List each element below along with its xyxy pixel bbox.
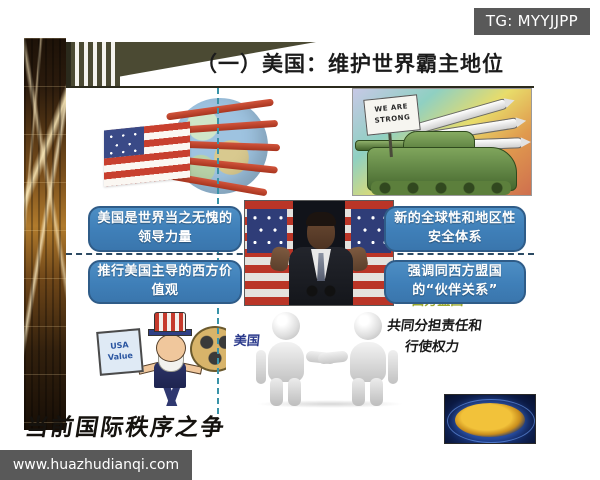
head-shape <box>156 334 186 362</box>
page-title: （一）美国：维护世界霸主地位 <box>170 42 530 86</box>
content-area: WE ARE STRONG USA <box>66 88 534 414</box>
golden-globe-photo <box>444 394 536 444</box>
callout-security-system[interactable]: 新的全球性和地区性安全体系 <box>384 206 526 252</box>
figure-leg <box>352 378 365 406</box>
label-united-states: 美国 <box>233 330 261 349</box>
we-are-strong-sign: WE ARE STRONG <box>363 94 420 135</box>
uncle-sam-cartoon: USA Value <box>88 310 244 410</box>
calligraphy-caption: 当前国际秩序之争 <box>23 408 228 442</box>
figure-leg <box>288 378 301 406</box>
microphones-shape <box>305 285 337 305</box>
figure-arm-extended <box>318 350 349 364</box>
tg-watermark-badge: TG: MYYJJPP <box>474 8 590 35</box>
figure-us <box>260 312 312 404</box>
site-watermark: www.huazhudianqi.com <box>0 450 192 480</box>
figure-leg <box>270 378 283 406</box>
slide-canvas: TG: MYYJJPP （一）美国：维护世界霸主地位 <box>0 0 600 480</box>
title-bar: （一）美国：维护世界霸主地位 <box>66 42 534 86</box>
figure-leg <box>370 378 383 406</box>
figure-torso <box>350 342 386 382</box>
obama-speech-photo <box>244 200 394 306</box>
tank-wheels-shape <box>371 181 511 195</box>
usa-value-sign: USA Value <box>96 328 144 376</box>
shared-text-line2: 行使权力 <box>383 337 480 358</box>
callout-western-values[interactable]: 推行美国主导的西方价值观 <box>88 260 242 304</box>
figure-torso <box>268 342 304 382</box>
us-flag-wrapping-globe-cartoon <box>96 92 296 204</box>
tank-missiles-cartoon: WE ARE STRONG <box>352 88 532 196</box>
figure-head <box>272 312 300 340</box>
decorative-left-strip <box>24 38 66 430</box>
shared-responsibility-text: 共同分担责任和 行使权力 <box>383 316 483 358</box>
title-underline <box>66 86 534 88</box>
us-flag-shape <box>104 121 190 186</box>
two-3d-figures-handshake: 美国 西方盟国 共同分担责任和 行使权力 <box>226 288 526 410</box>
shared-text-line1: 共同分担责任和 <box>386 316 483 337</box>
hair-shape <box>306 212 336 226</box>
globe-disc-shape <box>455 403 525 437</box>
figure-allies <box>342 312 394 404</box>
usa-sign-line2: Value <box>100 349 141 364</box>
title-stripes-decoration <box>66 42 120 86</box>
top-hat-shape <box>154 312 186 332</box>
callout-leadership[interactable]: 美国是世界当之无愧的领导力量 <box>88 206 242 252</box>
callout-partnership[interactable]: 强调同西方盟国的“伙伴关系” <box>384 260 526 304</box>
figure-head <box>354 312 382 340</box>
figure-arm-side <box>256 350 266 384</box>
